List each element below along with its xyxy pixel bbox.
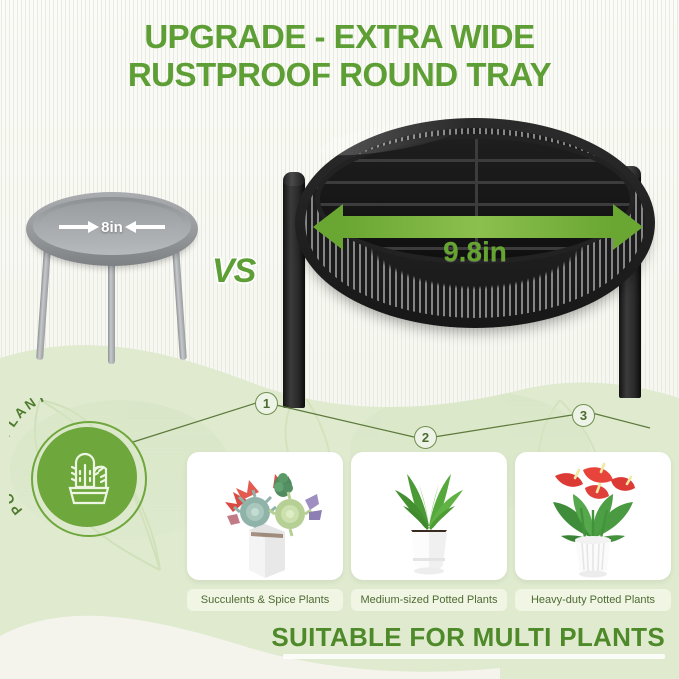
- potted-plant-badge: POTTED PLANT: [22, 412, 152, 542]
- plant-card-label-heavy-duty: Heavy-duty Potted Plants: [515, 589, 671, 611]
- step-marker-1: 1: [255, 392, 278, 415]
- headline-line-1: UPGRADE - EXTRA WIDE: [0, 18, 679, 56]
- step-marker-2: 2: [414, 426, 437, 449]
- old-tray-dimension-label: 8in: [101, 219, 123, 236]
- anthurium-in-ribbed-white-pot-image: [515, 452, 671, 580]
- old-product-stand: 8in: [22, 192, 202, 367]
- new-product-stand: 9.8in: [283, 118, 673, 408]
- page-title: UPGRADE - EXTRA WIDE RUSTPROOF ROUND TRA…: [0, 18, 679, 95]
- banner-underline: [283, 654, 665, 659]
- plant-card-medium[interactable]: [351, 452, 507, 580]
- plant-card-heavy-duty[interactable]: [515, 452, 671, 580]
- infographic-canvas: UPGRADE - EXTRA WIDE RUSTPROOF ROUND TRA…: [0, 0, 679, 679]
- new-tray-dimension-label: 9.8in: [295, 236, 655, 268]
- old-tray-dimension-indicator: 8in: [26, 216, 198, 238]
- plant-card-label-succulents: Succulents & Spice Plants: [187, 589, 343, 611]
- plant-card-label-medium: Medium-sized Potted Plants: [351, 589, 507, 611]
- arrow-left-icon: [125, 221, 165, 233]
- bottom-banner-text: SUITABLE FOR MULTI PLANTS: [271, 622, 665, 653]
- versus-label: VS: [212, 252, 255, 291]
- plant-card-list: [187, 452, 673, 612]
- svg-text:POTTED PLANT: POTTED PLANT: [9, 398, 50, 518]
- headline-line-2: RUSTPROOF ROUND TRAY: [0, 56, 679, 94]
- badge-arc-label: POTTED PLANT: [9, 398, 50, 518]
- new-product-tray: 9.8in: [295, 118, 655, 328]
- plant-card-label-list: Succulents & Spice Plants Medium-sized P…: [187, 589, 673, 611]
- arrow-right-icon: [59, 221, 99, 233]
- cactus-icon: [56, 445, 118, 509]
- succulents-in-hexagon-pot-image: [187, 452, 343, 580]
- plant-card-succulents[interactable]: [187, 452, 343, 580]
- old-stand-leg-center: [108, 252, 115, 364]
- aloe-in-round-white-pot-image: [351, 452, 507, 580]
- old-stand-leg-left: [36, 248, 51, 360]
- old-product-tray: 8in: [26, 192, 198, 266]
- old-stand-leg-right: [172, 248, 187, 360]
- step-marker-3: 3: [572, 404, 595, 427]
